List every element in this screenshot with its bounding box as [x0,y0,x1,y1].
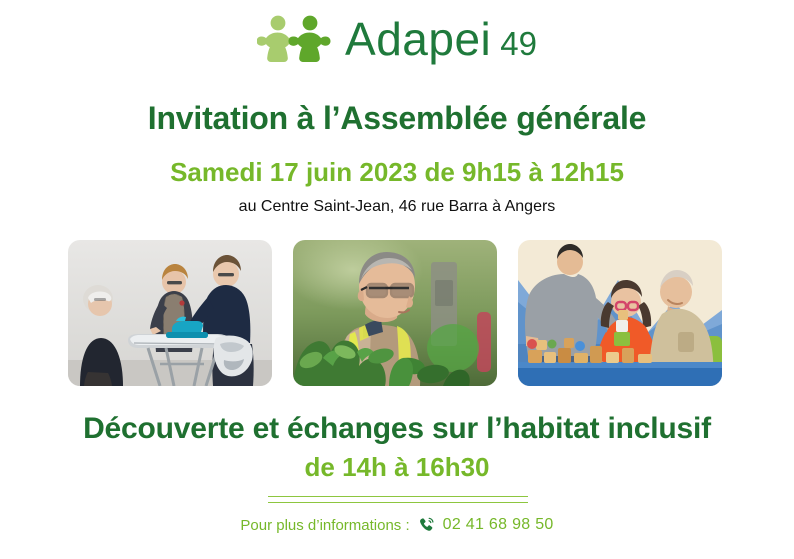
event-venue-line: au Centre Saint-Jean, 46 rue Barra à Ang… [0,198,794,216]
brand-wordmark: Adapei 49 [345,16,537,62]
footer-contact: Pour plus d’informations : 02 41 68 98 5… [0,516,794,534]
brand-number: 49 [500,27,537,60]
subject-time: de 14h à 16h30 [0,452,794,483]
photo-gallery [68,240,722,386]
two-people-icon [257,14,331,64]
brand-name: Adapei [345,16,491,62]
event-date-line: Samedi 17 juin 2023 de 9h15 à 12h15 [0,157,794,188]
photo-gardener [293,240,497,386]
subject-title: Découverte et échanges sur l’habitat inc… [0,412,794,446]
page-title: Invitation à l’Assemblée générale [0,100,794,137]
phone-icon [418,517,435,534]
footer-divider [268,496,528,503]
brand-header: Adapei 49 [0,8,794,70]
footer-phone-number: 02 41 68 98 50 [443,516,554,534]
photo-ironing-workshop [68,240,272,386]
footer-label: Pour plus d’informations : [240,517,409,534]
photo-wooden-blocks-activity [518,240,722,386]
